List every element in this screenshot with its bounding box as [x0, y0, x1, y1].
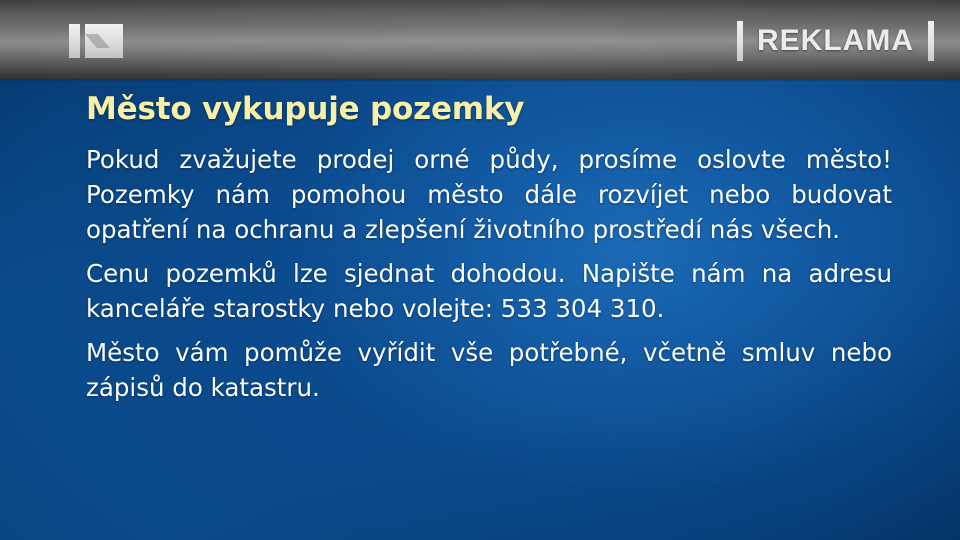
header-divider: [0, 79, 960, 82]
reklama-left-bar-icon: [737, 21, 743, 61]
body-paragraph-3-text: Město vám pomůže vyřídit vše potřebné, v…: [86, 335, 892, 405]
page-title: Město vykupuje pozemky: [86, 92, 892, 128]
reklama-label: REKLAMA: [757, 24, 914, 58]
body-paragraph-1: Pokud zvažujete prodej orné půdy, prosím…: [86, 142, 892, 247]
body-paragraph-1-text: Pokud zvažujete prodej orné půdy, prosím…: [86, 142, 892, 247]
body-paragraph-3: Město vám pomůže vyřídit vše potřebné, v…: [86, 335, 892, 405]
body-paragraph-2: Cenu pozemků lze sjednat dohodou. Napišt…: [86, 256, 892, 326]
slide-content: Město vykupuje pozemky Pokud zvažujete p…: [86, 92, 892, 405]
body-paragraph-2-text: Cenu pozemků lze sjednat dohodou. Napišt…: [86, 256, 892, 326]
header-bar: REKLAMA: [0, 0, 960, 79]
reklama-right-bar-icon: [928, 21, 934, 61]
slide-root: REKLAMA Město vykupuje pozemky Pokud zva…: [0, 0, 960, 540]
is-logo-icon: [69, 22, 127, 60]
reklama-badge: REKLAMA: [737, 20, 934, 62]
